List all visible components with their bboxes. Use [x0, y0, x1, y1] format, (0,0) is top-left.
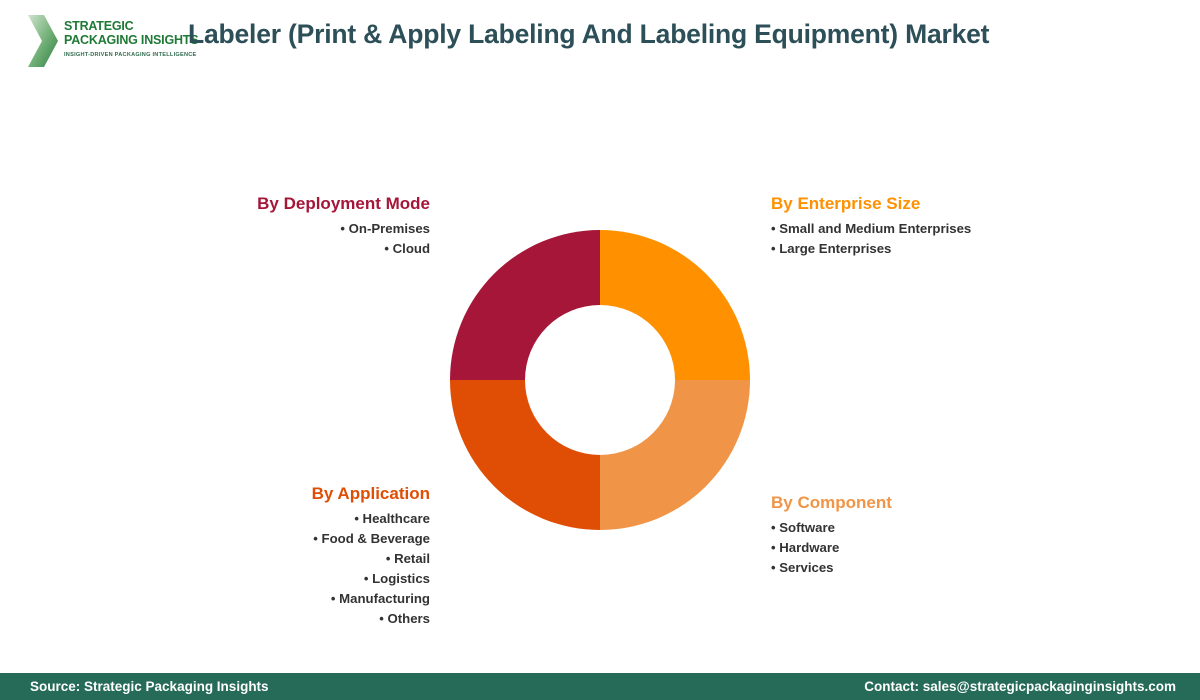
logo-line-2: PACKAGING INSIGHTS — [64, 34, 198, 48]
list-item: • On-Premises — [180, 219, 430, 239]
bullet-icon: • — [364, 571, 369, 586]
donut-chart-svg — [450, 230, 750, 530]
segment-list-enterprise-size: • Small and Medium Enterprises • Large E… — [771, 219, 1101, 259]
bullet-icon: • — [386, 551, 391, 566]
list-item: • Software — [771, 518, 1101, 538]
list-item-label: Cloud — [393, 241, 430, 256]
page-footer: Source: Strategic Packaging Insights Con… — [0, 673, 1200, 700]
brand-logo: STRATEGIC PACKAGING INSIGHTS INSIGHT-DRI… — [26, 12, 191, 72]
bullet-icon: • — [771, 520, 776, 535]
list-item-label: Large Enterprises — [779, 241, 891, 256]
bullet-icon: • — [379, 611, 384, 626]
list-item-label: Hardware — [779, 540, 839, 555]
list-item: • Hardware — [771, 538, 1101, 558]
list-item: • Small and Medium Enterprises — [771, 219, 1101, 239]
logo-tagline: INSIGHT-DRIVEN PACKAGING INTELLIGENCE — [64, 52, 198, 58]
logo-line-1: STRATEGIC — [64, 20, 198, 34]
list-item: • Logistics — [180, 569, 430, 589]
list-item: • Retail — [180, 549, 430, 569]
bullet-icon: • — [331, 591, 336, 606]
donut-chart — [450, 230, 750, 530]
bullet-icon: • — [771, 560, 776, 575]
list-item-label: Logistics — [372, 571, 430, 586]
list-item: • Food & Beverage — [180, 529, 430, 549]
bullet-icon: • — [313, 531, 318, 546]
list-item-label: On-Premises — [349, 221, 430, 236]
list-item-label: Others — [387, 611, 430, 626]
chevron-logo-icon — [26, 13, 60, 69]
list-item: • Others — [180, 609, 430, 629]
segment-title-application: By Application — [180, 483, 430, 504]
list-item: • Cloud — [180, 239, 430, 259]
list-item-label: Services — [779, 560, 833, 575]
list-item: • Services — [771, 558, 1101, 578]
segment-deployment-mode: By Deployment Mode • On-Premises • Cloud — [180, 193, 430, 259]
segment-application: By Application • Healthcare • Food & Bev… — [180, 483, 430, 629]
segment-title-component: By Component — [771, 492, 1101, 513]
donut-center-hole — [525, 305, 675, 455]
list-item-label: Manufacturing — [339, 591, 430, 606]
bullet-icon: • — [771, 221, 776, 236]
segment-enterprise-size: By Enterprise Size • Small and Medium En… — [771, 193, 1101, 259]
list-item: • Large Enterprises — [771, 239, 1101, 259]
brand-logo-text: STRATEGIC PACKAGING INSIGHTS INSIGHT-DRI… — [64, 12, 198, 58]
segment-title-enterprise-size: By Enterprise Size — [771, 193, 1101, 214]
bullet-icon: • — [354, 511, 359, 526]
footer-contact-text: Contact: sales@strategicpackaginginsight… — [864, 679, 1176, 694]
segment-title-deployment-mode: By Deployment Mode — [180, 193, 430, 214]
list-item-label: Small and Medium Enterprises — [779, 221, 971, 236]
bullet-icon: • — [340, 221, 345, 236]
page-header: STRATEGIC PACKAGING INSIGHTS INSIGHT-DRI… — [0, 0, 1200, 90]
bullet-icon: • — [771, 540, 776, 555]
segment-list-component: • Software • Hardware • Services — [771, 518, 1101, 578]
infographic-page: STRATEGIC PACKAGING INSIGHTS INSIGHT-DRI… — [0, 0, 1200, 700]
segment-component: By Component • Software • Hardware • Ser… — [771, 492, 1101, 578]
page-title: Labeler (Print & Apply Labeling And Labe… — [188, 19, 989, 50]
bullet-icon: • — [384, 241, 389, 256]
bullet-icon: • — [771, 241, 776, 256]
list-item-label: Healthcare — [363, 511, 430, 526]
list-item-label: Software — [779, 520, 835, 535]
list-item: • Healthcare — [180, 509, 430, 529]
segment-list-deployment-mode: • On-Premises • Cloud — [180, 219, 430, 259]
list-item: • Manufacturing — [180, 589, 430, 609]
list-item-label: Food & Beverage — [322, 531, 430, 546]
list-item-label: Retail — [394, 551, 430, 566]
footer-source-text: Source: Strategic Packaging Insights — [30, 679, 269, 694]
segment-list-application: • Healthcare • Food & Beverage • Retail … — [180, 509, 430, 629]
